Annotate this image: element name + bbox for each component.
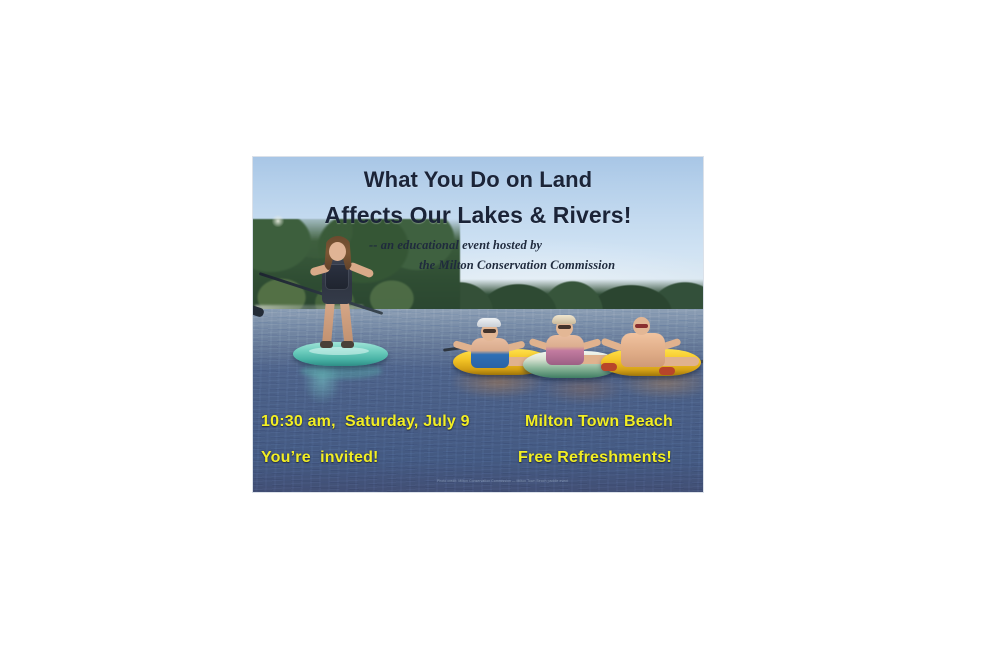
photo-credit-fine-print: Photo credit: Milton Conservation Commis… [437,479,697,484]
paddler-sunglasses [483,329,496,333]
paddler-torso [621,333,665,367]
kayak-paddle-blade-2 [659,367,675,375]
paddler-hat [552,315,576,324]
paddler-sunglasses [635,324,648,328]
poster-headline-line-2: Affects Our Lakes & Rivers! [253,202,703,229]
event-invitation: You’re invited! [261,449,379,467]
poster-subtitle-line-1: -- an educational event hosted by [369,238,542,253]
event-poster-image: What You Do on Land Affects Our Lakes & … [253,157,703,492]
paddleboarder-foot-left [320,341,333,348]
paddleboarder-foot-right [341,341,354,348]
event-refreshments: Free Refreshments! [518,449,672,467]
event-time: 10:30 am, Saturday, July 9 [261,413,470,431]
paddler-torso [546,335,584,365]
page-canvas: What You Do on Land Affects Our Lakes & … [0,0,1000,667]
poster-subtitle-line-2: the Milton Conservation Commission [419,258,615,273]
poster-headline-line-1: What You Do on Land [253,167,703,193]
event-location: Milton Town Beach [525,413,673,431]
paddler-torso [471,338,509,368]
paddleboarder-leg-left [322,298,335,347]
paddler-hat [477,318,501,327]
paddler-legs [659,357,699,366]
paddleboarder-head [329,242,346,261]
paddleboarder-figure [288,232,393,377]
paddler-sunglasses [558,325,571,329]
kayak-paddle-blade-1 [601,363,617,371]
kayak-group [453,305,703,385]
